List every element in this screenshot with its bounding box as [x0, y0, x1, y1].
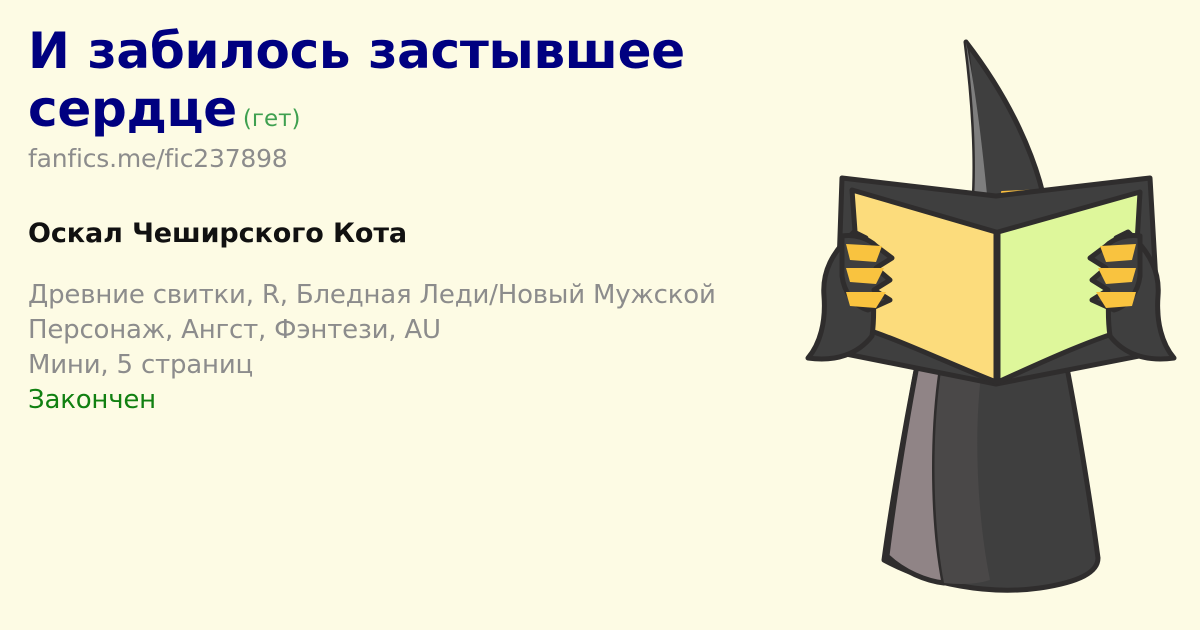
metadata-tags: Древние свитки, R, Бледная Леди/Новый Му… — [28, 278, 728, 348]
status-badge: Закончен — [28, 383, 768, 418]
text-column: И забилось застывшее сердце(гет) fanfics… — [28, 22, 768, 418]
fic-category-label: (гет) — [243, 106, 301, 132]
right-claw-1 — [1100, 244, 1136, 262]
metadata-block: Древние свитки, R, Бледная Леди/Новый Му… — [28, 278, 768, 418]
fandom-title: Оскал Чеширского Кота — [28, 218, 768, 250]
illustration-witch-reading-book — [780, 0, 1200, 630]
title-block: И забилось застывшее сердце(гет) — [28, 22, 768, 138]
left-claw-1 — [846, 244, 882, 262]
fic-url[interactable]: fanfics.me/fic237898 — [28, 144, 768, 174]
page-title: И забилось застывшее сердце — [28, 22, 685, 138]
preview-card: И забилось застывшее сердце(гет) fanfics… — [0, 0, 1200, 630]
metadata-size: Мини, 5 страниц — [28, 348, 768, 383]
